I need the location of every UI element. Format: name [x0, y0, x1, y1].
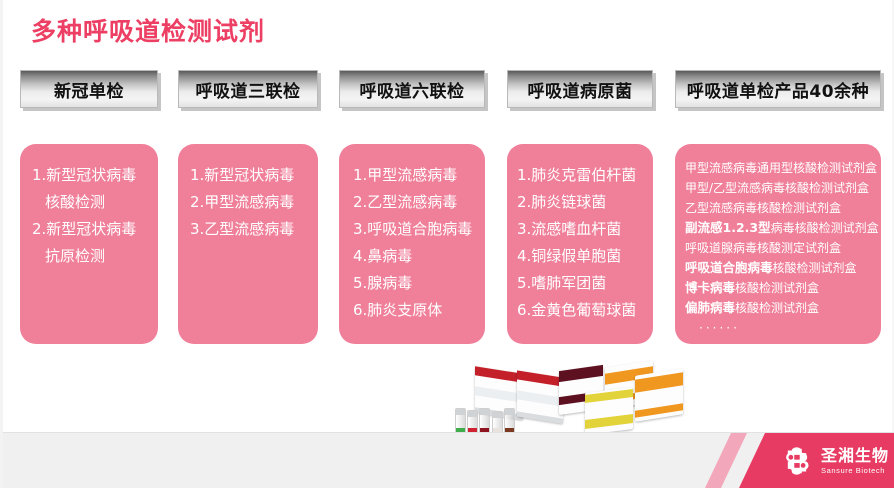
header-button-respiratory-single-40[interactable]: 呼吸道单检产品40余种 [675, 70, 881, 108]
card-respiratory-single-40: 甲型流感病毒通用型核酸检测试剂盒 甲型/乙型流感病毒核酸检测试剂盒 乙型流感病毒… [675, 144, 881, 344]
header-button-respiratory-triple[interactable]: 呼吸道三联检 [178, 70, 318, 108]
header-button-label: 呼吸道三联检 [196, 77, 301, 102]
header-button-respiratory-bacteria[interactable]: 呼吸道病原菌 [507, 70, 653, 108]
list-item-bold: 博卡病毒 [685, 280, 735, 295]
list-item-main: 3.流感嗜血杆菌 [517, 220, 621, 238]
list-item-rest: 核酸检测试剂盒 [735, 301, 819, 315]
list-item-rest: 甲型流感病毒通用型核酸检测试剂盒 [685, 161, 877, 175]
brand-text: 圣湘生物 Sansure Biotech [821, 448, 889, 475]
list-item: 1.甲型流感病毒 [353, 162, 485, 189]
list-item-main: 1.新型冠状病毒 [190, 166, 294, 184]
list-item-rest: 病毒核酸检测试剂盒 [771, 221, 879, 235]
list-item: 副流感1.2.3型病毒核酸检测试剂盒 [685, 218, 881, 238]
list-item: 呼吸道合胞病毒核酸检测试剂盒 [685, 258, 881, 278]
card-list: 1.甲型流感病毒 2.乙型流感病毒 3.呼吸道合胞病毒 4.鼻病毒 5.腺病毒 … [339, 144, 485, 324]
header-button-label: 呼吸道六联检 [360, 77, 465, 102]
list-item: 6.金黄色葡萄球菌 [517, 297, 653, 324]
card-respiratory-bacteria: 1.肺炎克雷伯杆菌 2.肺炎链球菌 3.流感嗜血杆菌 4.铜绿假单胞菌 5.嗜肺… [507, 144, 653, 344]
list-item-main: 4.鼻病毒 [353, 247, 412, 265]
list-item-rest: 核酸检测试剂盒 [735, 281, 819, 295]
list-item-main: 1.新型冠状病毒 [32, 166, 136, 184]
page-title: 多种呼吸道检测试剂 [31, 12, 265, 48]
list-item-bold: 呼吸道合胞病毒 [685, 260, 773, 275]
list-item: 呼吸道腺病毒核酸测定试剂盒 [685, 238, 881, 258]
product-box-yellow [585, 387, 633, 435]
list-item-main: 1.甲型流感病毒 [353, 166, 457, 184]
list-item: 1.新型冠状病毒 [190, 162, 318, 189]
list-item-bold: 偏肺病毒 [685, 300, 735, 315]
list-item: 5.腺病毒 [353, 270, 485, 297]
list-item-main: 3.乙型流感病毒 [190, 220, 294, 238]
list-item: 2.乙型流感病毒 [353, 189, 485, 216]
card-covid-single: 1.新型冠状病毒 核酸检测 2.新型冠状病毒 抗原检测 [20, 144, 158, 344]
list-item: 2.新型冠状病毒 抗原检测 [32, 216, 158, 270]
header-button-covid-single[interactable]: 新冠单检 [20, 70, 158, 108]
card-respiratory-triple: 1.新型冠状病毒 2.甲型流感病毒 3.乙型流感病毒 [178, 144, 318, 344]
list-item: 3.乙型流感病毒 [190, 216, 318, 243]
list-item-main: 4.铜绿假单胞菌 [517, 247, 621, 265]
header-button-label: 呼吸道单检产品40余种 [687, 77, 869, 102]
list-item-rest: 核酸检测试剂盒 [773, 261, 857, 275]
list-item-rest: 呼吸道腺病毒核酸测定试剂盒 [685, 241, 841, 255]
header-button-label: 呼吸道病原菌 [528, 77, 633, 102]
list-item: 甲型流感病毒通用型核酸检测试剂盒 [685, 158, 881, 178]
brand-name-cn: 圣湘生物 [821, 448, 889, 464]
list-item: 4.鼻病毒 [353, 243, 485, 270]
header-button-label: 新冠单检 [54, 77, 124, 102]
list-item-main: 6.金黄色葡萄球菌 [517, 301, 636, 319]
slide-canvas: 多种呼吸道检测试剂 新冠单检 呼吸道三联检 呼吸道六联检 呼吸道病原菌 呼吸道单… [0, 0, 894, 488]
list-item-main: 2.肺炎链球菌 [517, 193, 606, 211]
list-item: 博卡病毒核酸检测试剂盒 [685, 278, 881, 298]
footer-accent-brand: 圣湘生物 Sansure Biotech [739, 433, 894, 488]
card-list: 1.新型冠状病毒 核酸检测 2.新型冠状病毒 抗原检测 [20, 144, 158, 270]
list-item-main: 5.腺病毒 [353, 274, 412, 292]
list-item-sub: 核酸检测 [32, 189, 158, 216]
list-item-bold: 副流感1.2.3型 [685, 220, 771, 235]
list-item: 甲型/乙型流感病毒核酸检测试剂盒 [685, 178, 881, 198]
list-ellipsis: ······ [685, 318, 881, 338]
list-item-main: 2.乙型流感病毒 [353, 193, 457, 211]
list-item: 1.肺炎克雷伯杆菌 [517, 162, 653, 189]
list-item: 3.呼吸道合胞病毒 [353, 216, 485, 243]
list-item: 偏肺病毒核酸检测试剂盒 [685, 298, 881, 318]
list-item-rest: 甲型/乙型流感病毒核酸检测试剂盒 [685, 181, 869, 195]
list-item: 3.流感嗜血杆菌 [517, 216, 653, 243]
list-item-main: 6.肺炎支原体 [353, 301, 442, 319]
product-box-red-2 [517, 370, 563, 423]
list-item-rest: 乙型流感病毒核酸检测试剂盒 [685, 201, 841, 215]
list-item: 2.肺炎链球菌 [517, 189, 653, 216]
card-list: 甲型流感病毒通用型核酸检测试剂盒 甲型/乙型流感病毒核酸检测试剂盒 乙型流感病毒… [675, 144, 881, 338]
list-item: 乙型流感病毒核酸检测试剂盒 [685, 198, 881, 218]
header-button-respiratory-six[interactable]: 呼吸道六联检 [339, 70, 485, 108]
brand-name-en: Sansure Biotech [821, 467, 889, 475]
card-list: 1.新型冠状病毒 2.甲型流感病毒 3.乙型流感病毒 [178, 144, 318, 243]
list-item-main: 1.肺炎克雷伯杆菌 [517, 166, 636, 184]
list-item-main: 2.甲型流感病毒 [190, 193, 294, 211]
brand-logo: 圣湘生物 Sansure Biotech [780, 442, 889, 480]
footer-bar: 圣湘生物 Sansure Biotech [3, 432, 894, 488]
product-box-orange-2 [635, 368, 683, 422]
sansure-cross-logo-icon [780, 444, 814, 478]
card-respiratory-six: 1.甲型流感病毒 2.乙型流感病毒 3.呼吸道合胞病毒 4.鼻病毒 5.腺病毒 … [339, 144, 485, 344]
list-item-main: 3.呼吸道合胞病毒 [353, 220, 472, 238]
list-item-sub: 抗原检测 [32, 243, 158, 270]
list-item: 5.嗜肺军团菌 [517, 270, 653, 297]
footer-accent-light [705, 433, 747, 488]
list-item: 4.铜绿假单胞菌 [517, 243, 653, 270]
list-item: 1.新型冠状病毒 核酸检测 [32, 162, 158, 216]
list-item-main: 5.嗜肺军团菌 [517, 274, 606, 292]
list-item: 6.肺炎支原体 [353, 297, 485, 324]
card-list: 1.肺炎克雷伯杆菌 2.肺炎链球菌 3.流感嗜血杆菌 4.铜绿假单胞菌 5.嗜肺… [507, 144, 653, 324]
list-item-main: 2.新型冠状病毒 [32, 220, 136, 238]
list-item: 2.甲型流感病毒 [190, 189, 318, 216]
